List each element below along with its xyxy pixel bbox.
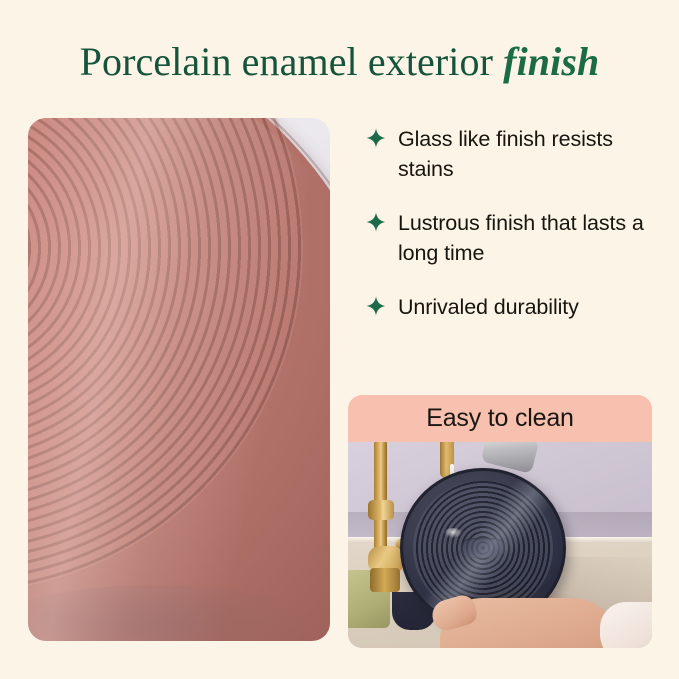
feature-item-label: Unrivaled durability [398, 292, 579, 322]
page-title-prefix: Porcelain enamel exterior [80, 39, 504, 84]
easy-to-clean-banner: Easy to clean [348, 395, 652, 442]
feature-item-label: Glass like finish resists stains [398, 124, 666, 184]
product-photo-card [28, 118, 330, 641]
marketing-infographic: Porcelain enamel exterior finish Glass l… [0, 0, 679, 679]
faucet-collar [368, 500, 394, 520]
hand-sleeve [600, 602, 652, 648]
sink-scene-photo [348, 442, 652, 648]
feature-item: Lustrous finish that lasts a long time [366, 208, 666, 268]
easy-to-clean-label: Easy to clean [426, 405, 574, 432]
easy-to-clean-panel: Easy to clean [348, 395, 652, 648]
feature-item: Glass like finish resists stains [366, 124, 666, 184]
sparkle-icon [366, 212, 386, 232]
page-title: Porcelain enamel exterior finish [0, 38, 679, 86]
page-title-accent: finish [503, 39, 599, 84]
feature-item: Unrivaled durability [366, 292, 666, 322]
feature-list: Glass like finish resists stains Lustrou… [366, 124, 666, 322]
sparkle-icon [366, 296, 386, 316]
feature-item-label: Lustrous finish that lasts a long time [398, 208, 666, 268]
faucet-base [370, 568, 400, 592]
sparkle-icon [366, 128, 386, 148]
water-splash [444, 528, 462, 538]
